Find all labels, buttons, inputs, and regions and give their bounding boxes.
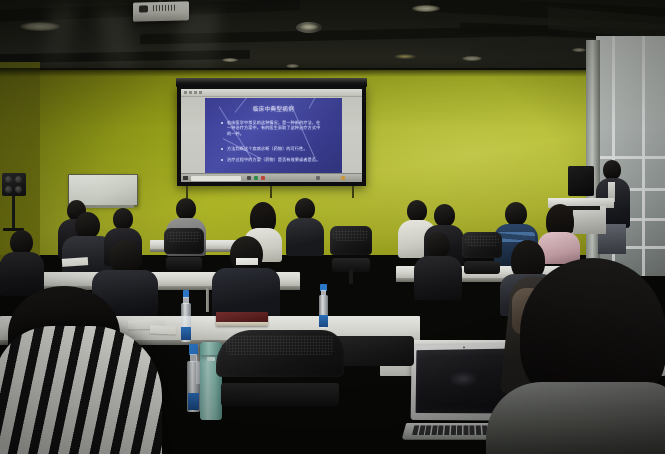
ceiling-downlight	[572, 48, 586, 52]
taskbar-app-icon[interactable]	[316, 176, 320, 180]
chair-back	[330, 226, 372, 255]
windows-taskbar[interactable]	[181, 173, 362, 182]
water-bottle	[180, 290, 192, 342]
attendee-head	[426, 232, 450, 258]
bottle-body	[319, 295, 329, 328]
projector-lens-icon	[139, 5, 148, 12]
attendee-head	[109, 240, 141, 274]
thermos-button	[207, 357, 216, 362]
window-titlebar	[181, 89, 362, 97]
desk-leg	[206, 288, 209, 312]
attendee	[286, 198, 324, 254]
water-bottle	[318, 284, 329, 328]
loudspeaker	[2, 173, 26, 196]
speaker-stand	[12, 196, 15, 230]
bottle-label	[181, 327, 190, 340]
ceiling-downlight	[394, 54, 416, 59]
screen-support	[186, 186, 188, 198]
attendee-head	[176, 198, 196, 220]
bottle-label	[319, 315, 328, 326]
attendee	[414, 232, 462, 298]
office-chair	[462, 232, 502, 274]
attendee-head	[113, 208, 133, 230]
bottle-body	[187, 361, 200, 412]
office-chair	[164, 228, 204, 270]
attendee-body	[286, 218, 324, 256]
chair-back	[462, 232, 502, 258]
ceiling-downlight	[462, 56, 482, 61]
projection-screen: 临床中典型病例 临床医学中常见的这种情况，是一种新的疗法，在一种治疗方案中，有的…	[177, 85, 366, 186]
chair-seat	[464, 261, 501, 274]
book-pages	[216, 322, 268, 326]
chair-seat	[221, 383, 339, 406]
ceiling-downlight	[300, 24, 318, 30]
attendee-head	[505, 202, 527, 226]
chair-post	[349, 270, 353, 284]
screen-canvas: 临床中典型病例 临床医学中常见的这种情况，是一种新的疗法，在一种治疗方案中，有的…	[181, 89, 362, 182]
paper-sheet	[236, 258, 258, 265]
ceiling-downlight	[222, 58, 238, 62]
attendee-body	[414, 256, 462, 300]
chair-back	[164, 228, 204, 254]
chair-back	[216, 330, 344, 377]
office-chair	[330, 226, 372, 272]
taskbar-app-icon[interactable]	[254, 176, 258, 180]
attendee-head	[230, 236, 263, 272]
ceiling-downlight	[20, 22, 60, 31]
ceiling	[0, 0, 665, 78]
paper-sheet	[150, 325, 176, 334]
classroom-photo: 临床中典型病例 临床医学中常见的这种情况，是一种新的疗法，在一种治疗方案中，有的…	[0, 0, 665, 454]
slide-bullet: 治疗过程中的方案（药物）是否有效果或者是否。	[227, 157, 323, 162]
slide-title: 临床中典型病例	[205, 105, 342, 113]
taskbar-app-icon[interactable]	[341, 176, 345, 180]
foreground-person-striped-shirt	[0, 326, 162, 454]
presenter-head	[603, 160, 621, 180]
slide-bullet: 临床医学中常见的这种情况，是一种新的疗法，在一种治疗方案中，有的医生采取了这种治…	[227, 120, 323, 136]
bottle-label	[188, 393, 200, 410]
taskbar-app-icon[interactable]	[261, 176, 265, 180]
attendee-head	[295, 198, 315, 220]
wall-monitor	[568, 166, 594, 196]
book	[216, 312, 268, 326]
ceiling-downlight	[412, 5, 440, 12]
bottle-body	[181, 303, 192, 342]
screen-support	[352, 186, 354, 198]
attendee	[212, 236, 280, 316]
taskbar-app-icon[interactable]	[247, 176, 251, 180]
start-button-icon[interactable]	[183, 176, 188, 180]
office-chair	[216, 330, 344, 406]
attendee	[0, 230, 44, 294]
projector-vent	[153, 5, 177, 12]
water-bottle	[186, 344, 201, 412]
attendee-body	[0, 252, 44, 296]
attendee-head	[434, 204, 455, 227]
taskbar-search-input[interactable]	[191, 176, 241, 181]
screen-support	[270, 186, 272, 198]
chair-seat	[166, 257, 203, 270]
projector	[133, 1, 189, 21]
window-mullion	[596, 156, 665, 159]
wall-ceiling-shadow	[0, 68, 600, 77]
presentation-slide: 临床中典型病例 临床医学中常见的这种情况，是一种新的疗法，在一种治疗方案中，有的…	[205, 98, 342, 173]
slide-bullet: 方法判断这个疾病诊断（药物）的可行性。	[227, 146, 323, 151]
laptop-webcam-icon	[463, 346, 465, 348]
foreground-person-shirt	[486, 382, 665, 454]
attendee-head	[75, 212, 100, 239]
